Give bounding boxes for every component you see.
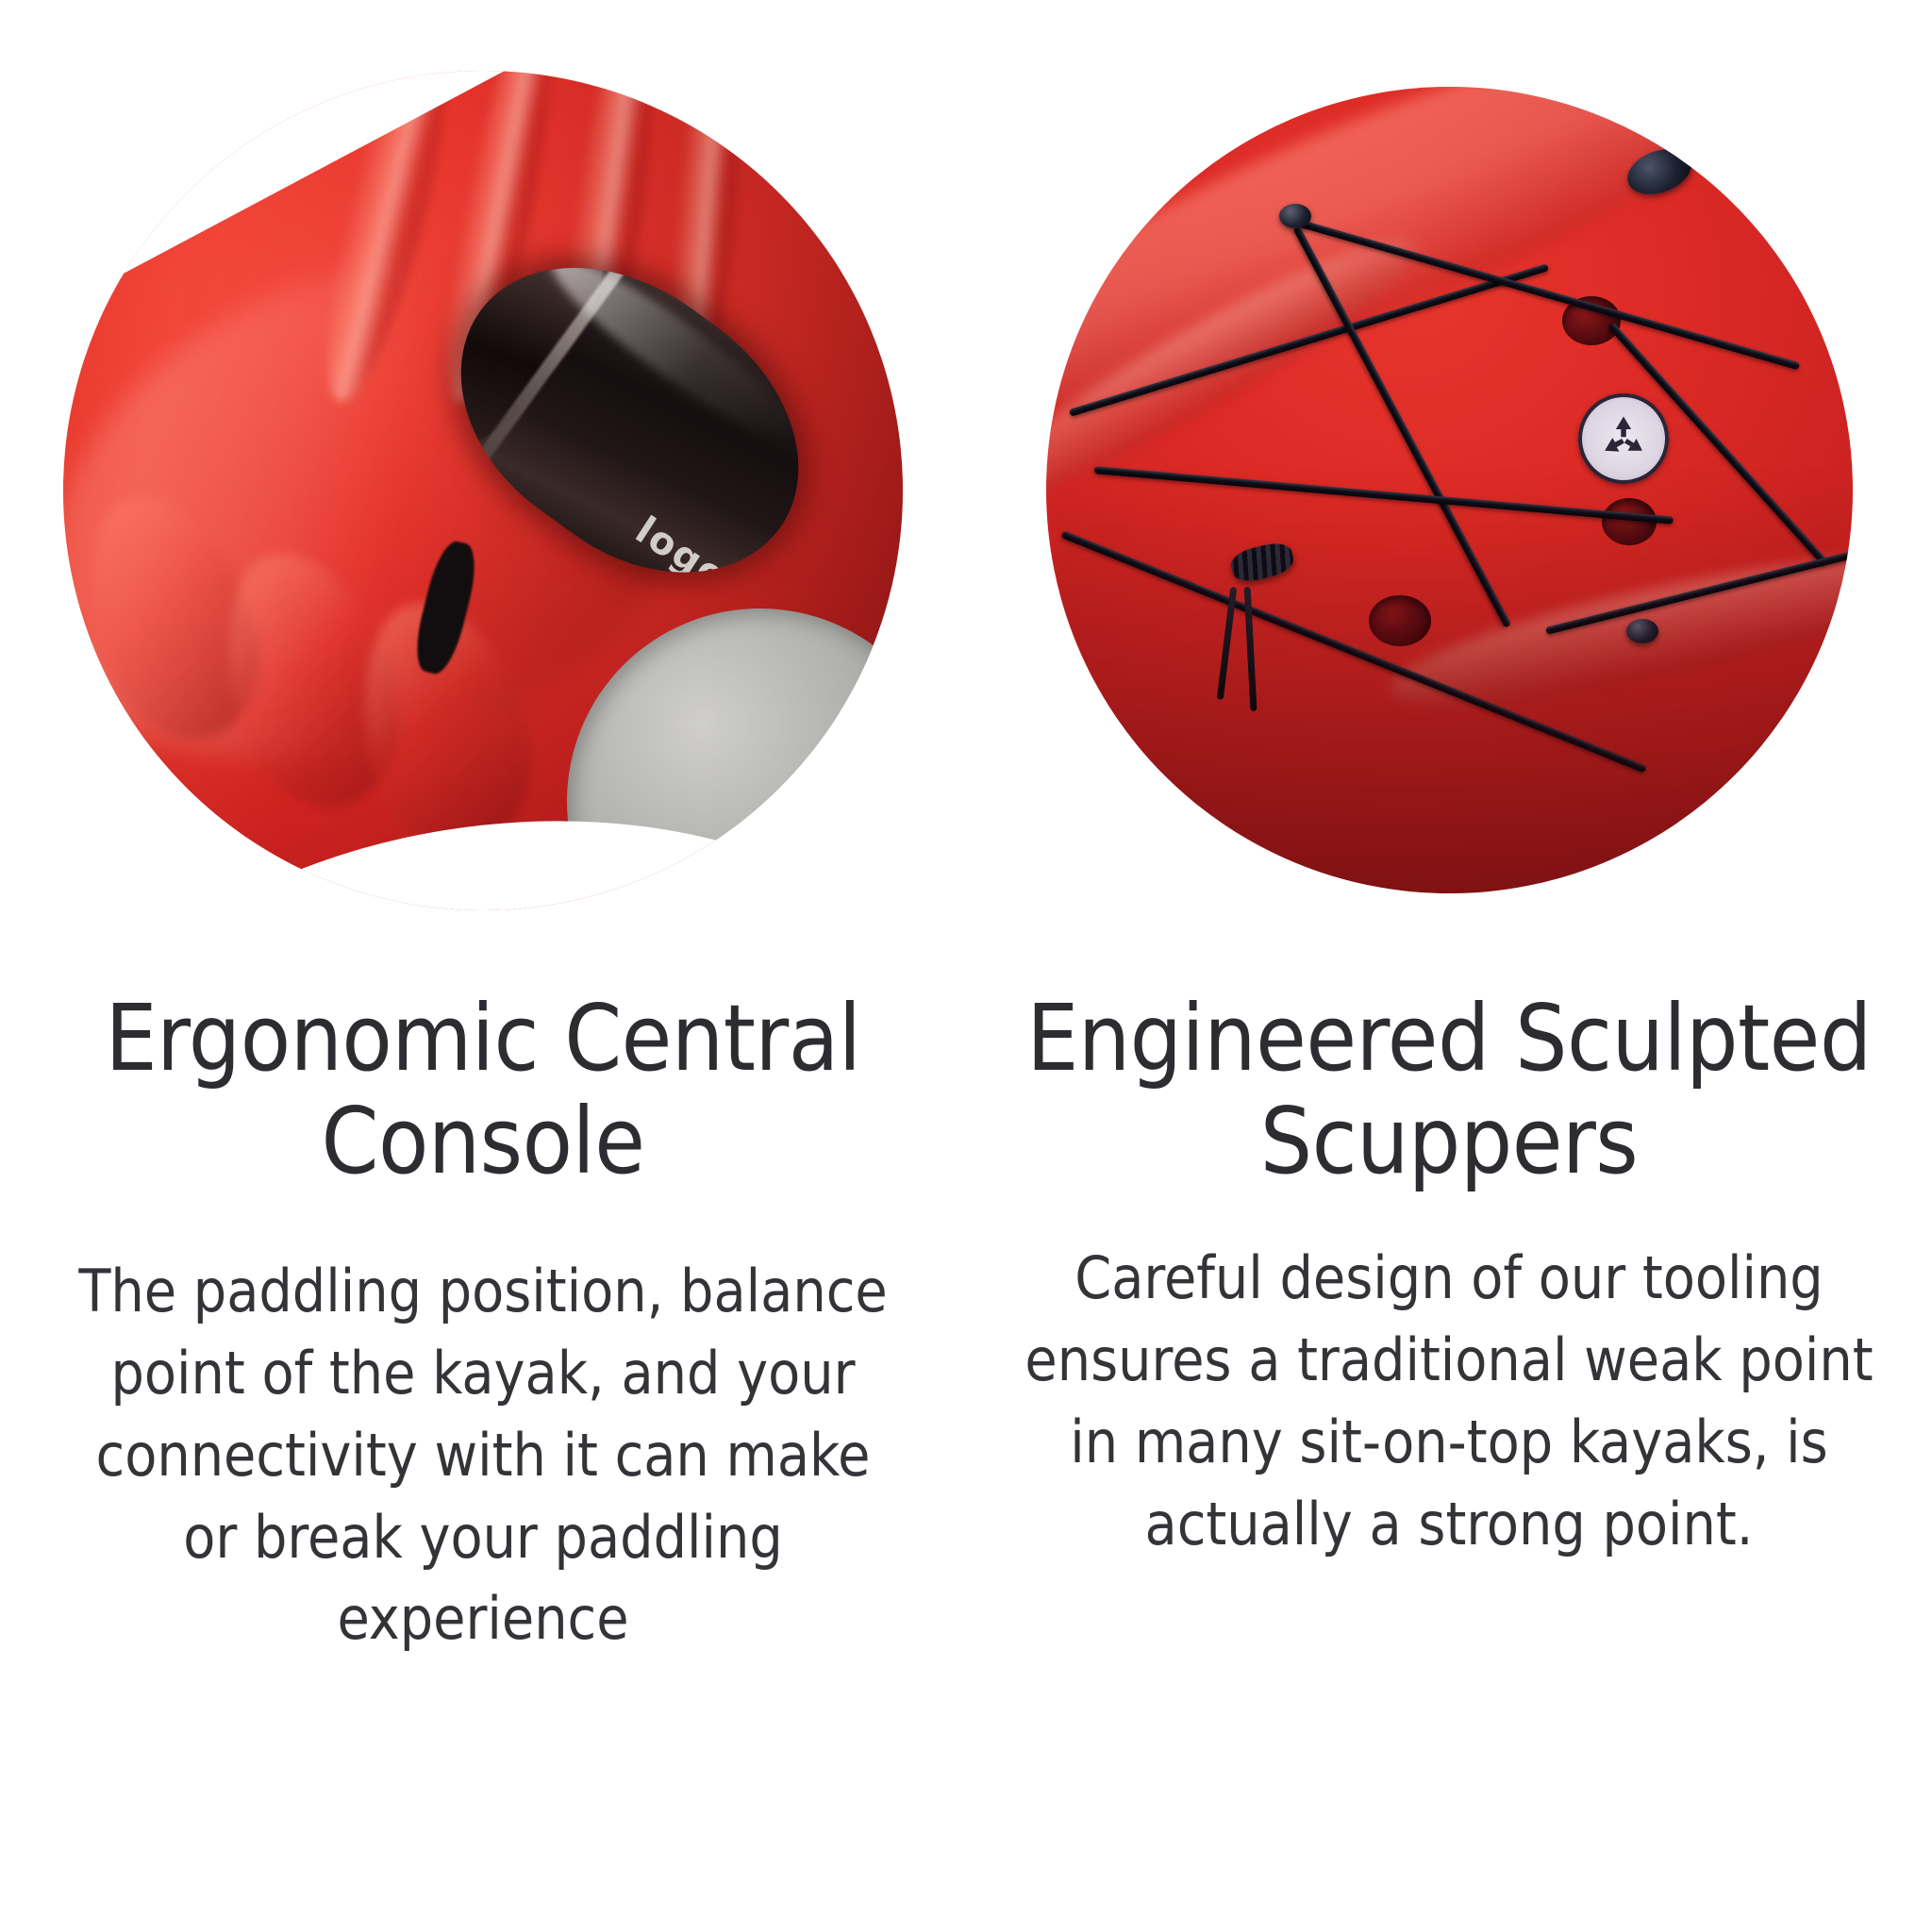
- feature-heading-engineered-sculpted-scuppers: Engineered Sculpted Scuppers: [1006, 988, 1892, 1192]
- feature-card-ergonomic-central-console: logo Ergonomic Central Console The paddl…: [0, 0, 966, 1916]
- seat-pad-fitting: [871, 865, 903, 910]
- deck-shading: [1046, 474, 1853, 893]
- feature-image-engineered-sculpted-scuppers: [1046, 87, 1853, 893]
- feature-heading-ergonomic-central-console: Ergonomic Central Console: [40, 988, 926, 1192]
- feature-grid: logo Ergonomic Central Console The paddl…: [0, 0, 1932, 1916]
- feature-image-ergonomic-central-console: logo: [63, 71, 903, 910]
- feature-body-engineered-sculpted-scuppers: Careful design of our tooling ensures a …: [1024, 1238, 1874, 1565]
- feature-body-ergonomic-central-console: The paddling position, balance point of …: [68, 1251, 898, 1660]
- recycling-symbol-sticker: [1578, 393, 1669, 484]
- feature-card-engineered-sculpted-scuppers: Engineered Sculpted Scuppers Careful des…: [966, 0, 1932, 1916]
- recycle-icon: [1596, 411, 1651, 466]
